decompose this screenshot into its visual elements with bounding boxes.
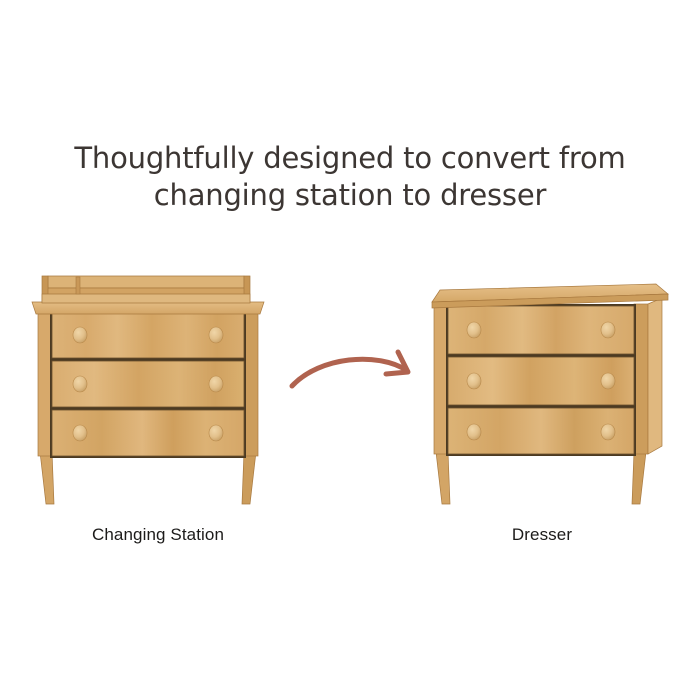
knob-top-left[interactable] <box>73 327 87 343</box>
side-post-left <box>434 304 448 454</box>
comparison-scene: Changing Station Dresser <box>0 0 700 700</box>
side-panel-right <box>648 298 662 454</box>
dresser-top-slab <box>32 302 264 314</box>
changing-tray-front-rail <box>42 294 250 303</box>
caption-changing-station: Changing Station <box>28 525 288 545</box>
knob-top-right[interactable] <box>601 322 615 338</box>
side-post-right <box>634 304 648 454</box>
changing-tray-divider <box>76 277 80 294</box>
leg-front-left <box>40 452 54 504</box>
knob-middle-left[interactable] <box>467 373 481 389</box>
dresser-illustration <box>424 280 674 512</box>
side-post-right <box>244 310 258 456</box>
side-post-left <box>38 310 52 456</box>
knob-middle-right[interactable] <box>209 376 223 392</box>
caption-dresser: Dresser <box>412 525 672 545</box>
leg-front-right <box>242 452 256 504</box>
leg-front-left <box>436 452 450 504</box>
changing-station-svg <box>28 272 284 512</box>
changing-station-illustration <box>28 272 284 512</box>
leg-front-right <box>632 452 646 504</box>
page-root: Thoughtfully designed to convert from ch… <box>0 0 700 700</box>
knob-top-left[interactable] <box>467 322 481 338</box>
knob-bottom-right[interactable] <box>209 425 223 441</box>
knob-middle-left[interactable] <box>73 376 87 392</box>
dresser-svg <box>424 280 674 512</box>
convert-arrow-icon <box>286 344 426 408</box>
knob-middle-right[interactable] <box>601 373 615 389</box>
knob-top-right[interactable] <box>209 327 223 343</box>
knob-bottom-left[interactable] <box>73 425 87 441</box>
knob-bottom-left[interactable] <box>467 424 481 440</box>
knob-bottom-right[interactable] <box>601 424 615 440</box>
